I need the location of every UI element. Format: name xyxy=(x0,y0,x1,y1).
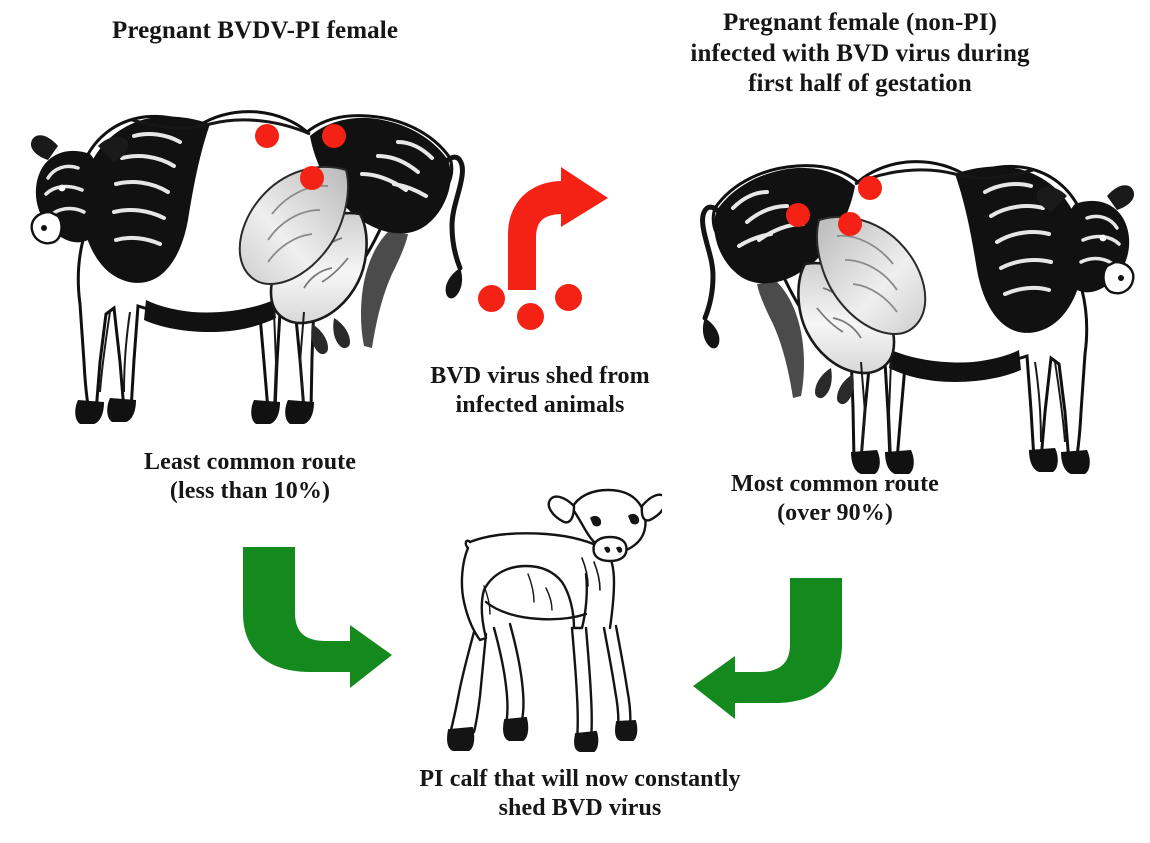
right-cow-figure xyxy=(655,112,1135,502)
pi-calf-caption-line2: shed BVD virus xyxy=(310,794,850,823)
shed-virus-dot-2 xyxy=(517,303,544,330)
shed-virus-dot-1 xyxy=(478,285,505,312)
virus-dot-left-cow-2 xyxy=(322,124,346,148)
virus-dot-right-cow-1 xyxy=(786,203,810,227)
left-cow-caption: Pregnant BVDV-PI female xyxy=(20,16,490,47)
least-common-route-line2: (less than 10%) xyxy=(95,477,405,506)
least-common-route-arrow xyxy=(240,545,395,695)
least-common-route-line1: Least common route xyxy=(95,448,405,477)
right-cow-caption-line2: infected with BVD virus during xyxy=(600,39,1120,70)
most-common-route-arrow xyxy=(690,576,845,726)
most-common-route-caption: Most common route (over 90%) xyxy=(690,470,980,529)
shed-virus-dots xyxy=(470,283,590,345)
virus-dot-right-cow-3 xyxy=(858,176,882,200)
most-common-route-line2: (over 90%) xyxy=(690,499,980,528)
pi-calf-caption-line1: PI calf that will now constantly xyxy=(310,765,850,794)
least-common-route-caption: Least common route (less than 10%) xyxy=(95,448,405,507)
shed-virus-caption-line1: BVD virus shed from xyxy=(390,362,690,391)
shed-virus-caption-line2: infected animals xyxy=(390,391,690,420)
right-cow-caption-line1: Pregnant female (non-PI) xyxy=(600,8,1120,39)
most-common-route-line1: Most common route xyxy=(690,470,980,499)
shed-virus-caption: BVD virus shed from infected animals xyxy=(390,362,690,421)
right-cow-caption-line3: first half of gestation xyxy=(600,69,1120,100)
virus-dot-left-cow-1 xyxy=(255,124,279,148)
shed-virus-dot-3 xyxy=(555,284,582,311)
left-cow-caption-text: Pregnant BVDV-PI female xyxy=(112,17,398,44)
virus-transmission-arrow xyxy=(495,165,615,290)
right-cow-caption: Pregnant female (non-PI) infected with B… xyxy=(600,8,1120,100)
virus-dot-right-cow-2 xyxy=(838,212,862,236)
diagram-canvas: Pregnant BVDV-PI female Pregnant female … xyxy=(0,0,1150,843)
pi-calf-caption: PI calf that will now constantly shed BV… xyxy=(310,765,850,824)
pi-calf-figure xyxy=(422,462,662,752)
virus-dot-left-cow-3 xyxy=(300,166,324,190)
